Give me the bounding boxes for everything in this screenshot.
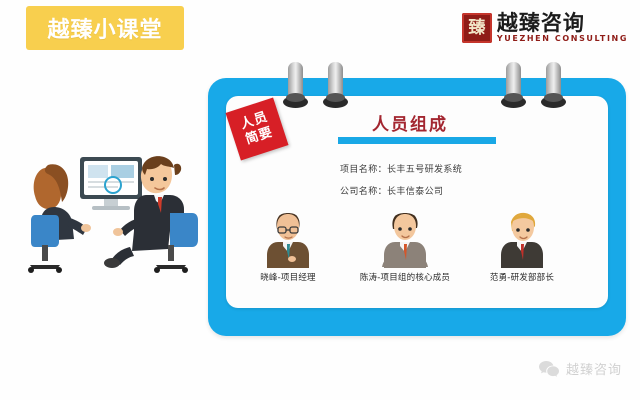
person-card: 陈涛-项目组的核心成员: [345, 210, 465, 283]
slide-canvas: 越臻小课堂 臻 越臻咨询 YUEZHEN CONSULTING: [0, 0, 640, 400]
person-card: 晓峰-项目经理: [228, 210, 348, 283]
person-avatar: [345, 210, 465, 268]
person-avatar: [462, 210, 582, 268]
coworkers-illustration: [18, 135, 198, 285]
person-card: 范勇-研发部部长: [462, 210, 582, 283]
seal-glyph: 臻: [468, 20, 485, 37]
people-row: 晓峰-项目经理 陈涛-项目组的核心成员: [240, 210, 590, 295]
card-title: 人员组成: [372, 110, 448, 135]
person-avatar: [228, 210, 348, 268]
clip-post-3-icon: [506, 62, 521, 108]
title-underline: [338, 137, 496, 144]
brand-logo: 臻 越臻咨询 YUEZHEN CONSULTING: [462, 10, 628, 46]
brand-name-cn: 越臻咨询: [497, 12, 628, 34]
person-caption: 陈涛-项目组的核心成员: [345, 271, 465, 283]
company-name-line: 公司名称：长丰信泰公司: [340, 184, 443, 197]
wechat-icon: [538, 360, 560, 378]
watermark-label: 越臻咨询: [566, 359, 622, 378]
person-caption: 范勇-研发部部长: [462, 271, 582, 283]
course-badge: 越臻小课堂: [26, 6, 184, 50]
seal-icon: 臻: [462, 13, 492, 43]
project-name-line: 项目名称：长丰五号研发系统: [340, 162, 462, 175]
course-badge-label: 越臻小课堂: [47, 12, 162, 44]
clip-post-1-icon: [288, 62, 303, 108]
brand-logo-words: 越臻咨询 YUEZHEN CONSULTING: [497, 12, 628, 44]
clip-post-4-icon: [546, 62, 561, 108]
person-caption: 晓峰-项目经理: [228, 271, 348, 283]
brand-name-en: YUEZHEN CONSULTING: [497, 34, 628, 44]
clip-post-2-icon: [328, 62, 343, 108]
watermark: 越臻咨询: [538, 359, 622, 378]
